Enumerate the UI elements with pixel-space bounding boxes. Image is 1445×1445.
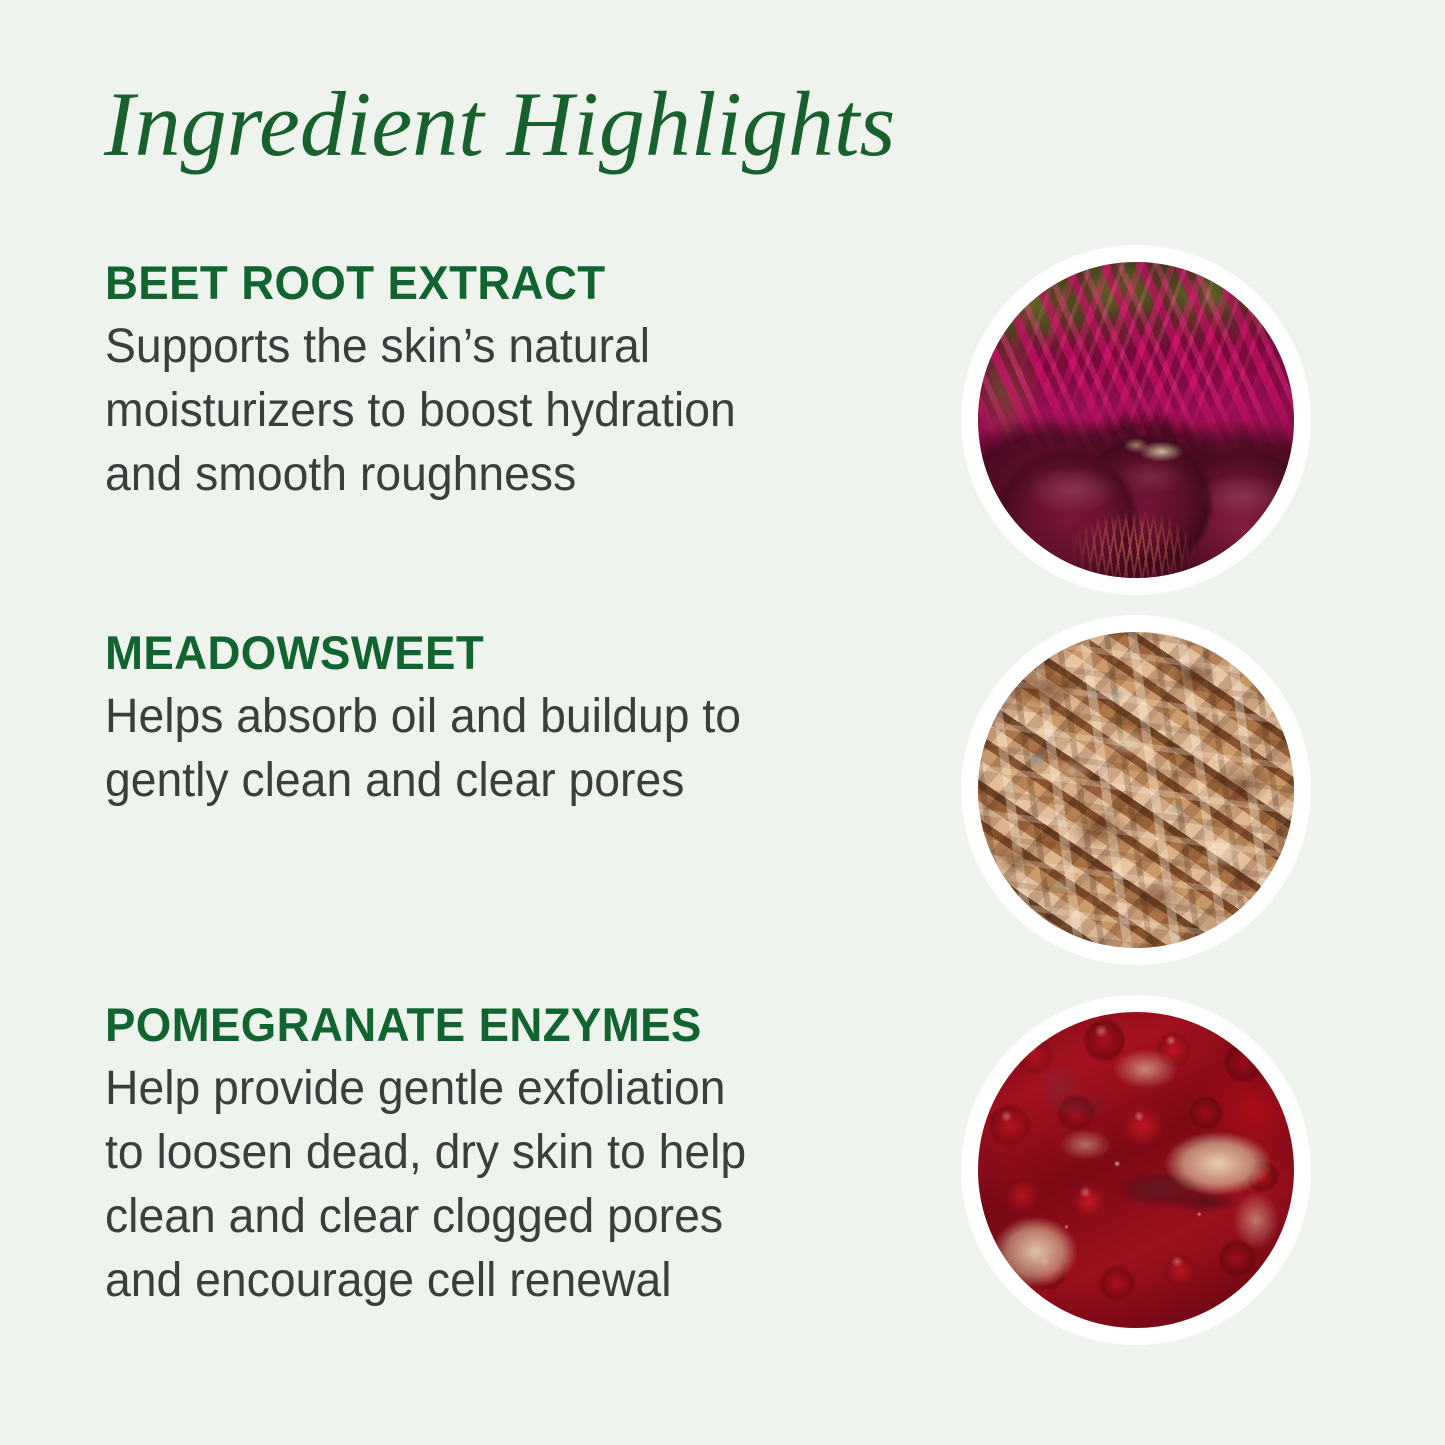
- ingredient-name-meadowsweet: MEADOWSWEET: [105, 628, 871, 679]
- beet-root-photo: [978, 262, 1294, 578]
- meadowsweet-bark-photo: [978, 632, 1294, 948]
- description-line: Supports the skin’s natural: [105, 315, 896, 379]
- ingredient-image-frame-pomegranate: [962, 996, 1310, 1344]
- ingredient-name-pomegranate-enzymes: POMEGRANATE ENZYMES: [105, 1000, 871, 1051]
- ingredient-list: BEET ROOT EXTRACT Supports the skin’s na…: [0, 0, 1445, 1445]
- description-line: Help provide gentle exfoliation: [105, 1057, 896, 1121]
- ingredient-image-frame-meadowsweet: [962, 616, 1310, 964]
- ingredient-text-block: BEET ROOT EXTRACT Supports the skin’s na…: [105, 258, 895, 507]
- description-line: moisturizers to boost hydration: [105, 379, 896, 443]
- wood-vignette-layer: [978, 632, 1294, 948]
- beet-vignette-layer: [978, 262, 1294, 578]
- description-line: clean and clear clogged pores: [105, 1185, 896, 1249]
- ingredient-description-beet-root-extract: Supports the skin’s natural moisturizers…: [105, 315, 896, 507]
- ingredient-name-beet-root-extract: BEET ROOT EXTRACT: [105, 258, 871, 309]
- ingredient-description-pomegranate-enzymes: Help provide gentle exfoliation to loose…: [105, 1057, 896, 1313]
- description-line: and encourage cell renewal: [105, 1249, 896, 1313]
- description-line: gently clean and clear pores: [105, 749, 896, 813]
- description-line: Helps absorb oil and buildup to: [105, 685, 896, 749]
- description-line: to loosen dead, dry skin to help: [105, 1121, 896, 1185]
- description-line: and smooth roughness: [105, 443, 896, 507]
- pomegranate-vignette-layer: [978, 1012, 1294, 1328]
- ingredient-text-block: MEADOWSWEET Helps absorb oil and buildup…: [105, 628, 895, 813]
- ingredient-description-meadowsweet: Helps absorb oil and buildup to gently c…: [105, 685, 896, 813]
- ingredient-highlights-page: Ingredient Highlights BEET ROOT EXTRACT …: [0, 0, 1445, 1445]
- ingredient-text-block: POMEGRANATE ENZYMES Help provide gentle …: [105, 1000, 895, 1313]
- ingredient-image-frame-beet-root: [962, 246, 1310, 594]
- pomegranate-photo: [978, 1012, 1294, 1328]
